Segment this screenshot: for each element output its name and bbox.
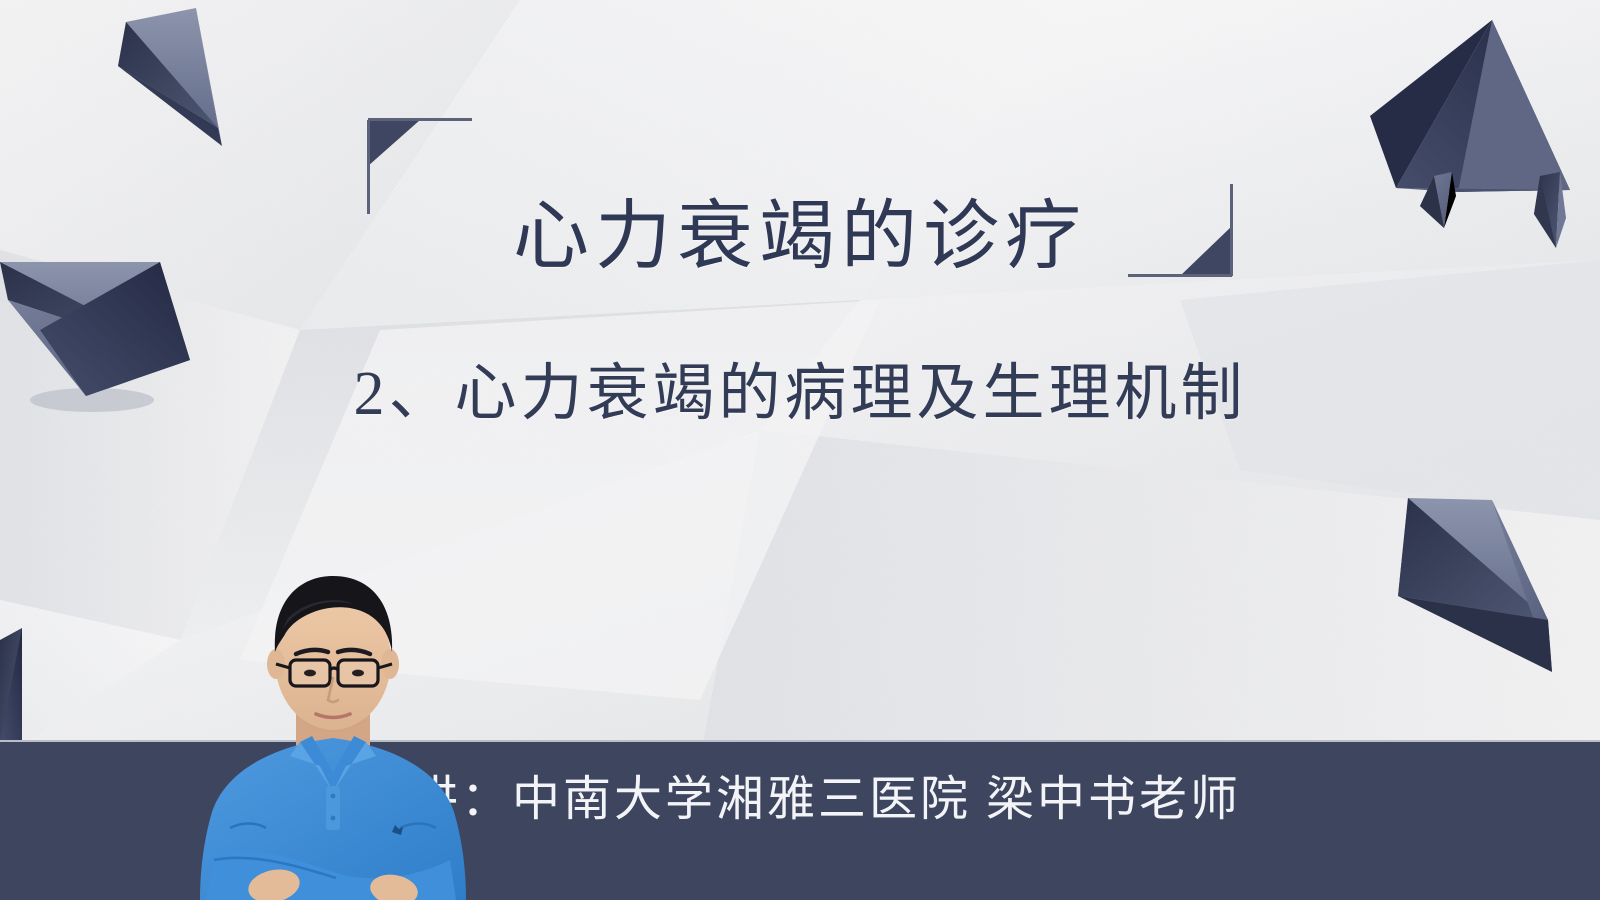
page-subtitle: 2、心力衰竭的病理及生理机制	[0, 363, 1600, 425]
presentation-slide: 心力衰竭的诊疗 2、心力衰竭的病理及生理机制 主讲：中南大学湘雅三医院 梁中书老…	[0, 0, 1600, 900]
presenter-photo	[178, 560, 488, 900]
page-title: 心力衰竭的诊疗	[0, 199, 1600, 275]
presenter-portrait-image	[178, 560, 488, 900]
